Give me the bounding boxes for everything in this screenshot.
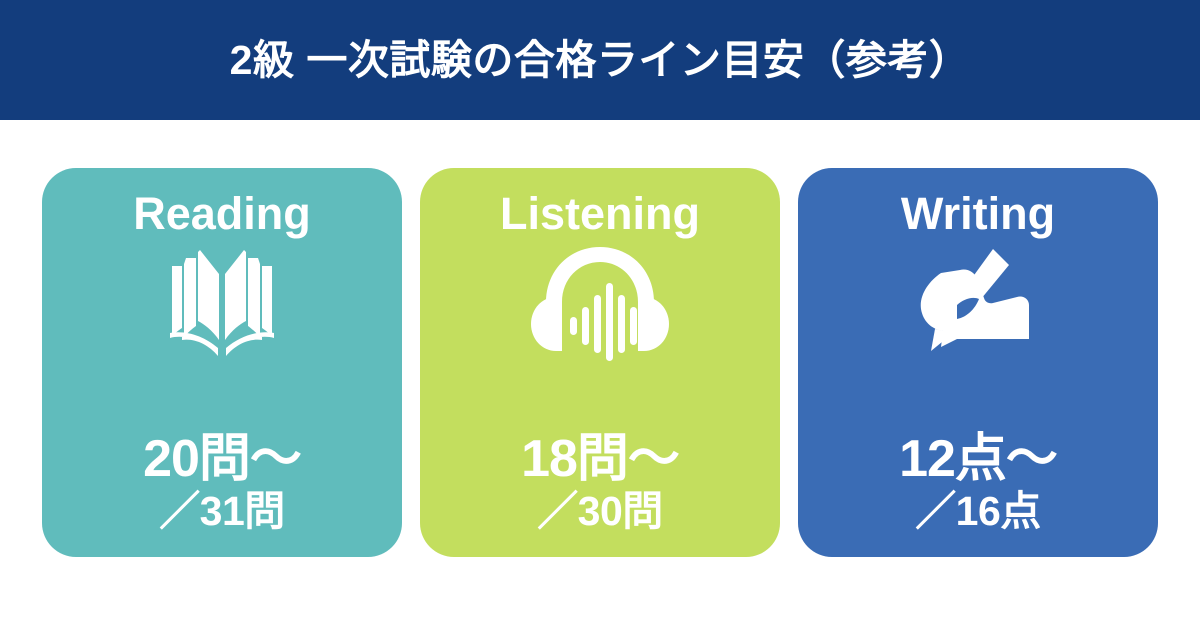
score-threshold-reading: 20問〜 <box>42 432 402 487</box>
score-total-reading: ／31問 <box>42 489 402 535</box>
skill-card-writing: Writing 12点〜 ／16点 <box>798 168 1158 557</box>
card-score-listening: 18問〜 ／30問 <box>420 432 780 535</box>
score-total-listening: ／30問 <box>420 489 780 535</box>
card-score-writing: 12点〜 ／16点 <box>798 432 1158 535</box>
score-threshold-listening: 18問〜 <box>420 432 780 487</box>
card-label-listening: Listening <box>500 190 700 237</box>
infographic-canvas: 2級 一次試験の合格ライン目安（参考） Reading <box>0 0 1200 630</box>
card-score-reading: 20問〜 ／31問 <box>42 432 402 535</box>
header-banner: 2級 一次試験の合格ライン目安（参考） <box>0 0 1200 120</box>
score-threshold-writing: 12点〜 <box>798 432 1158 487</box>
hand-writing-pencil-icon <box>905 241 1051 365</box>
skill-card-listening: Listening <box>420 168 780 557</box>
score-total-writing: ／16点 <box>798 489 1158 535</box>
card-label-reading: Reading <box>133 190 311 237</box>
page-title: 2級 一次試験の合格ライン目安（参考） <box>230 40 971 81</box>
card-label-writing: Writing <box>901 190 1055 237</box>
skill-card-reading: Reading <box>42 168 402 557</box>
skill-cards-row: Reading <box>42 168 1158 557</box>
open-book-icon <box>158 241 286 365</box>
headphones-soundwave-icon <box>526 241 674 365</box>
